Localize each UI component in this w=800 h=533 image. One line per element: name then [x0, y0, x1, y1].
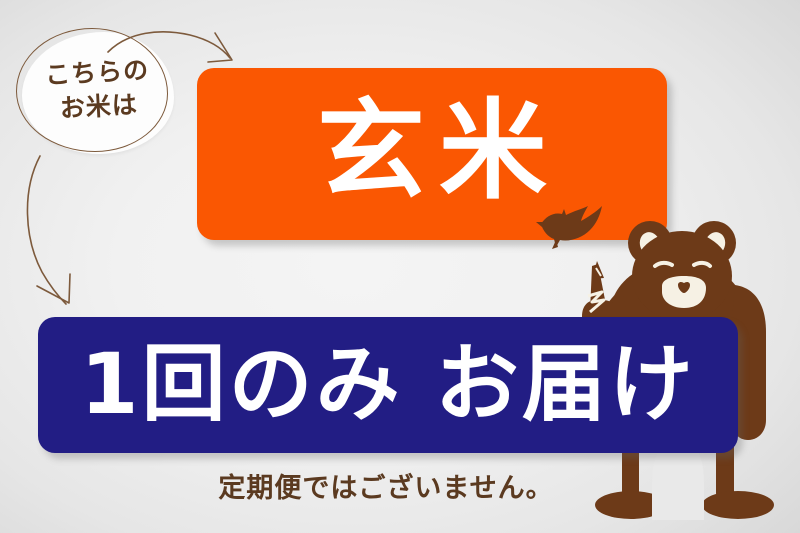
delivery-frequency-label: 1回のみ お届け: [80, 342, 696, 426]
bird-silhouette: [536, 206, 602, 249]
promo-banner-canvas: こちらの お米は: [0, 0, 800, 533]
delivery-frequency-banner[interactable]: 1回のみ お届け: [38, 317, 738, 453]
bird-icon: [0, 0, 800, 533]
subscription-disclaimer: 定期便ではございません。: [0, 466, 800, 505]
